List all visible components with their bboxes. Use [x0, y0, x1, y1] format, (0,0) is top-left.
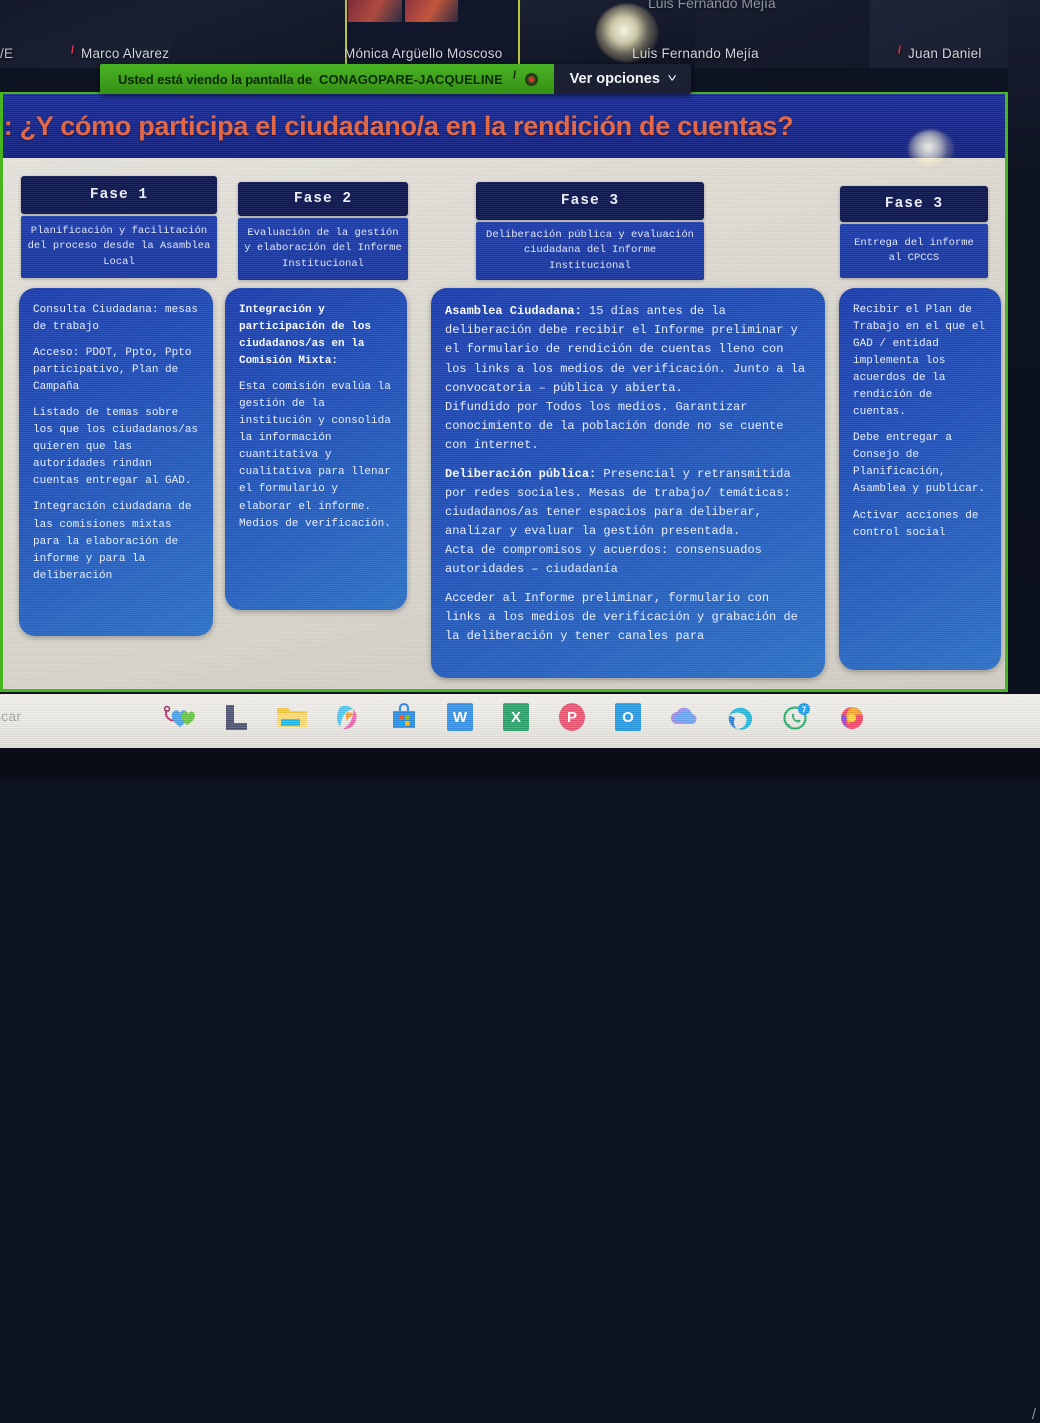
excel-icon[interactable]: X: [498, 699, 534, 735]
card1-paragraph-3: Listado de temas sobre los que los ciuda…: [33, 405, 199, 490]
health-heart-icon[interactable]: [162, 699, 198, 735]
participant-name-2: Mónica Argüello Moscoso: [344, 46, 502, 61]
screen-bezel-right: [1008, 0, 1040, 694]
search-input[interactable]: uscar: [0, 708, 21, 724]
phase-subtitle-3: Deliberación pública y evaluación ciudad…: [476, 222, 704, 280]
share-banner-green: Usted está viendo la pantalla de CONAGOP…: [100, 64, 554, 94]
card2-lead: Integración y participación de los ciuda…: [239, 302, 393, 370]
outlook-icon[interactable]: O: [610, 699, 646, 735]
phase-subtitle-1: Planificación y facilitación del proceso…: [21, 216, 217, 278]
phase-header-4: Fase 3: [840, 186, 988, 222]
onedrive-icon[interactable]: [666, 699, 702, 735]
screen-photo: Luis Fernando Mejía /E ╵ Marco Alvarez M…: [0, 0, 1040, 780]
card3-block-4: Acta de compromisos y acuerdos: consensu…: [445, 541, 811, 579]
word-icon[interactable]: W: [442, 699, 478, 735]
screen-bezel-bottom: [0, 748, 1040, 780]
participant-label-2: Mónica Argüello Moscoso: [344, 46, 502, 61]
word-letter: W: [453, 709, 467, 726]
presentation-slide: ): ¿Y cómo participa el ciudadano/a en l…: [3, 94, 1005, 689]
card3-block-5: Acceder al Informe preliminar, formulari…: [445, 589, 811, 647]
card4-paragraph-2: Debe entregar a Consejo de Planificación…: [853, 430, 987, 498]
phase-subtitle-4: Entrega del informe al CPCCS: [840, 224, 988, 278]
participant-label-3: Luis Fernando Mejía: [632, 46, 759, 61]
card3-block-1: Asamblea Ciudadana: 15 días antes de la …: [445, 302, 811, 398]
firefox-icon[interactable]: [834, 699, 870, 735]
content-card-fase-2: Integración y participación de los ciuda…: [225, 288, 407, 610]
content-card-fase-3: Asamblea Ciudadana: 15 días antes de la …: [431, 288, 825, 678]
phase-header-1: Fase 1: [21, 176, 217, 214]
lenovo-icon[interactable]: [218, 699, 254, 735]
edge-icon[interactable]: [722, 699, 758, 735]
windows-taskbar: uscar: [0, 694, 1040, 748]
participant-name-1: ╵ Marco Alvarez: [68, 46, 169, 61]
card3-block-2: Difundido por Todos los medios. Garantiz…: [445, 398, 811, 456]
shared-screen-region: ): ¿Y cómo participa el ciudadano/a en l…: [0, 92, 1008, 692]
participant-name-row: /E ╵ Marco Alvarez Mónica Argüello Mosco…: [0, 39, 1040, 61]
content-card-fase-4: Recibir el Plan de Trabajo en el que el …: [839, 288, 1001, 670]
participant-name-0: /E: [0, 46, 13, 61]
card2-paragraph-1: Esta comisión evalúa la gestión de la in…: [239, 379, 393, 532]
card1-paragraph-2: Acceso: PDOT, Ppto, Ppto participativo, …: [33, 345, 199, 396]
participant-label-1: Marco Alvarez: [81, 46, 169, 61]
participant-name-4: ╵ Juan Daniel: [895, 46, 982, 61]
participant-name-3: Luis Fernando Mejía: [632, 46, 759, 61]
video-thumbnails: [348, 0, 458, 22]
microsoft-store-icon[interactable]: [386, 699, 422, 735]
share-banner-prefix: Usted está viendo la pantalla de: [118, 72, 312, 87]
microphone-muted-icon: ╵: [894, 47, 904, 60]
phase-subtitle-2: Evaluación de la gestión y elaboración d…: [238, 218, 408, 280]
powerpoint-letter: P: [567, 709, 577, 726]
powerpoint-icon[interactable]: P: [554, 699, 590, 735]
card3-block-1-label: Asamblea Ciudadana:: [445, 304, 582, 318]
meeting-participant-strip: Luis Fernando Mejía /E ╵ Marco Alvarez M…: [0, 0, 1040, 68]
card4-paragraph-1: Recibir el Plan de Trabajo en el que el …: [853, 302, 987, 421]
screen-share-banner: Usted está viendo la pantalla de CONAGOP…: [100, 64, 691, 94]
card1-paragraph-1: Consulta Ciudadana: mesas de trabajo: [33, 302, 199, 336]
file-explorer-icon[interactable]: [274, 699, 310, 735]
whatsapp-icon[interactable]: 7: [778, 699, 814, 735]
view-options-label: Ver opciones: [570, 71, 660, 87]
taskbar-trailing-glyph: /: [1032, 1406, 1036, 1423]
card3-block-3: Deliberación pública: Presencial y retra…: [445, 465, 811, 542]
office-icon[interactable]: [330, 699, 366, 735]
slide-title: ): ¿Y cómo participa el ciudadano/a en l…: [3, 111, 793, 142]
card3-block-3-label: Deliberación pública:: [445, 467, 596, 481]
whatsapp-badge-count: 7: [802, 705, 807, 715]
microphone-muted-icon: ╵: [509, 71, 519, 87]
participant-label-4: Juan Daniel: [908, 46, 982, 61]
excel-letter: X: [511, 709, 521, 726]
participant-label-0: /E: [0, 46, 13, 61]
view-options-button[interactable]: Ver opciones ˅: [554, 64, 692, 94]
participant-name-partial: Luis Fernando Mejía: [648, 0, 776, 11]
content-card-fase-1: Consulta Ciudadana: mesas de trabajo Acc…: [19, 288, 213, 636]
card4-paragraph-3: Activar acciones de control social: [853, 508, 987, 542]
taskbar-icon-list: W X P O: [162, 699, 870, 735]
microphone-muted-icon: ╵: [67, 47, 77, 60]
outlook-letter: O: [622, 709, 634, 726]
phase-header-2: Fase 2: [238, 182, 408, 216]
phase-header-3: Fase 3: [476, 182, 704, 220]
chevron-down-icon: ˅: [667, 73, 677, 85]
share-banner-host: CONAGOPARE-JACQUELINE: [319, 72, 503, 87]
card1-paragraph-4: Integración ciudadana de las comisiones …: [33, 499, 199, 584]
recording-icon: [525, 73, 538, 86]
slide-title-band: ): ¿Y cómo participa el ciudadano/a en l…: [3, 94, 1005, 158]
